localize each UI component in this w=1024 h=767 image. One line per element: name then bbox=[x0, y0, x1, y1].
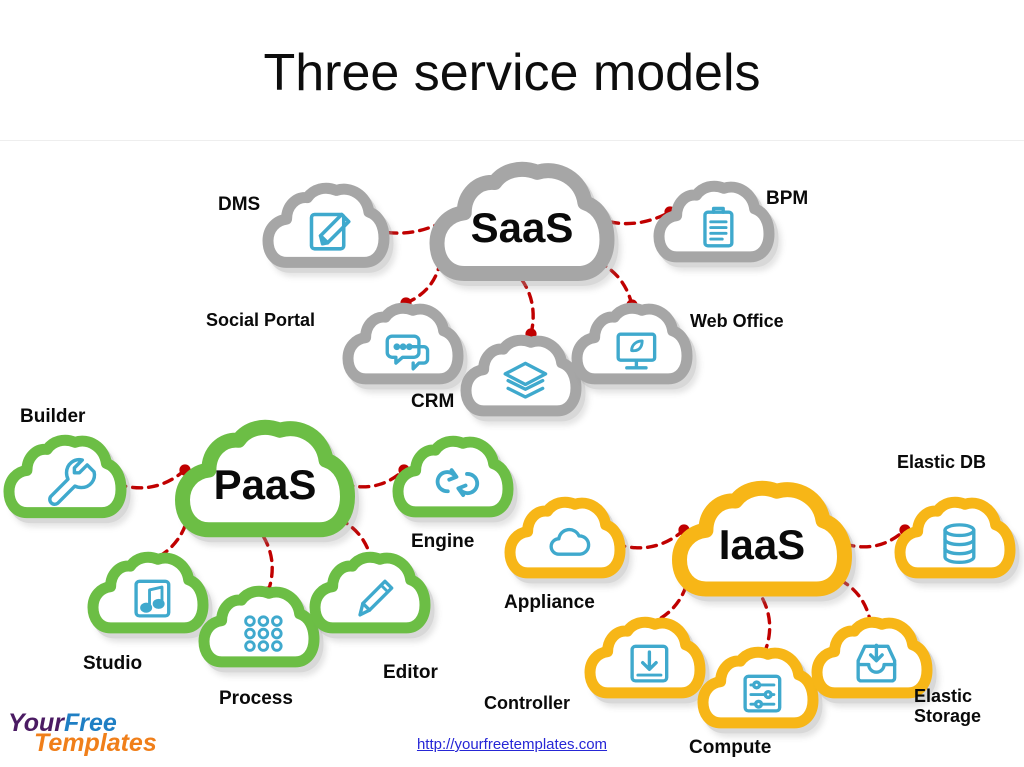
hub-label-paas: PaaS bbox=[135, 461, 395, 509]
node-crm[interactable] bbox=[466, 340, 580, 416]
node-controller[interactable] bbox=[590, 622, 704, 698]
node-web-office[interactable] bbox=[577, 308, 691, 384]
node-editor[interactable] bbox=[315, 557, 429, 633]
node-process[interactable] bbox=[204, 591, 318, 667]
node-social-portal[interactable] bbox=[348, 308, 462, 384]
node-label-controller: Controller bbox=[484, 693, 570, 713]
node-label-studio: Studio bbox=[83, 653, 142, 674]
slide-canvas: Three service models SaaSDMSBPMSocial Po… bbox=[0, 0, 1024, 767]
cloud-layer bbox=[9, 169, 1014, 728]
node-label-crm: CRM bbox=[411, 391, 454, 412]
node-studio[interactable] bbox=[93, 557, 207, 633]
node-dms[interactable] bbox=[268, 188, 388, 267]
hub-label-saas: SaaS bbox=[392, 204, 652, 252]
node-engine[interactable] bbox=[398, 441, 512, 517]
node-label-elastic-storage: ElasticStorage bbox=[914, 686, 981, 726]
node-elastic-db[interactable] bbox=[900, 502, 1014, 578]
node-label-bpm: BPM bbox=[766, 188, 808, 209]
node-label-elastic-db: Elastic DB bbox=[897, 452, 986, 472]
node-label-appliance: Appliance bbox=[504, 592, 595, 613]
hub-label-iaas: IaaS bbox=[632, 521, 892, 569]
diagram-svg bbox=[0, 0, 1024, 767]
node-label-editor: Editor bbox=[383, 662, 438, 683]
node-label-process: Process bbox=[219, 688, 293, 709]
node-label-dms: DMS bbox=[218, 194, 260, 215]
node-compute[interactable] bbox=[703, 652, 817, 728]
node-label-web-office: Web Office bbox=[690, 311, 784, 331]
footer-url-link[interactable]: http://yourfreetemplates.com bbox=[0, 736, 1024, 753]
node-builder[interactable] bbox=[9, 440, 125, 517]
node-label-social-portal: Social Portal bbox=[206, 310, 315, 330]
node-appliance[interactable] bbox=[510, 502, 624, 578]
node-label-engine: Engine bbox=[411, 531, 474, 552]
node-label-builder: Builder bbox=[20, 406, 85, 427]
node-bpm[interactable] bbox=[659, 186, 773, 262]
